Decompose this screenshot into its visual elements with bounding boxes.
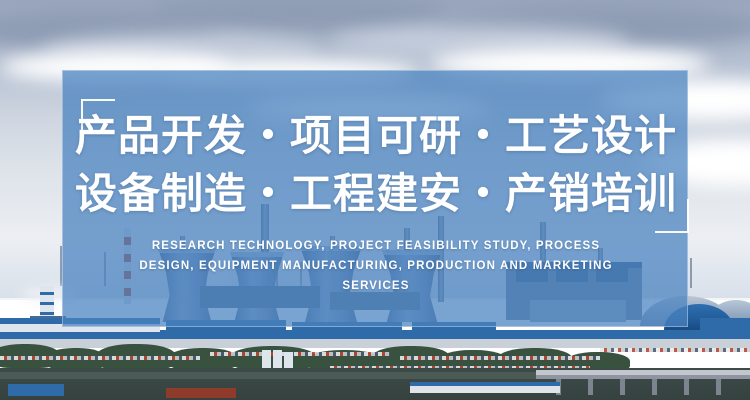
corner-bracket-bottom-right-icon [655, 199, 689, 233]
foreground-shed-roof [410, 382, 560, 386]
viaduct-pier [716, 379, 721, 395]
foreground-shed [8, 384, 64, 396]
foreground-roof-red [166, 388, 236, 398]
vehicle-lot-row [600, 348, 750, 352]
vehicle-lot-row [400, 356, 600, 360]
subtitle: RESEARCH TECHNOLOGY, PROJECT FEASIBILITY… [137, 236, 615, 296]
viaduct-pier [652, 379, 657, 395]
viaduct-pier [620, 379, 625, 395]
text-overlay-panel: 产品开发・项目可研・工艺设计 设备制造・工程建安・产销培训 RESEARCH T… [62, 70, 688, 327]
viaduct-pier [588, 379, 593, 395]
control-tower-band [40, 312, 54, 315]
viaduct-pier [684, 379, 689, 395]
control-tower-band [40, 302, 54, 305]
headline-line-1: 产品开发・项目可研・工艺设计 [63, 107, 689, 165]
headline-line-2: 设备制造・工程建安・产销培训 [63, 165, 689, 223]
elevated-roadway [536, 370, 750, 379]
power-pylon [690, 258, 692, 288]
hero-banner: 产品开发・项目可研・工艺设计 设备制造・工程建安・产销培训 RESEARCH T… [0, 0, 750, 400]
headline: 产品开发・项目可研・工艺设计 设备制造・工程建安・产销培训 [63, 107, 689, 223]
vehicle-lot-row [210, 352, 390, 356]
vehicle-lot-row [0, 356, 200, 360]
control-tower-band [40, 292, 54, 295]
